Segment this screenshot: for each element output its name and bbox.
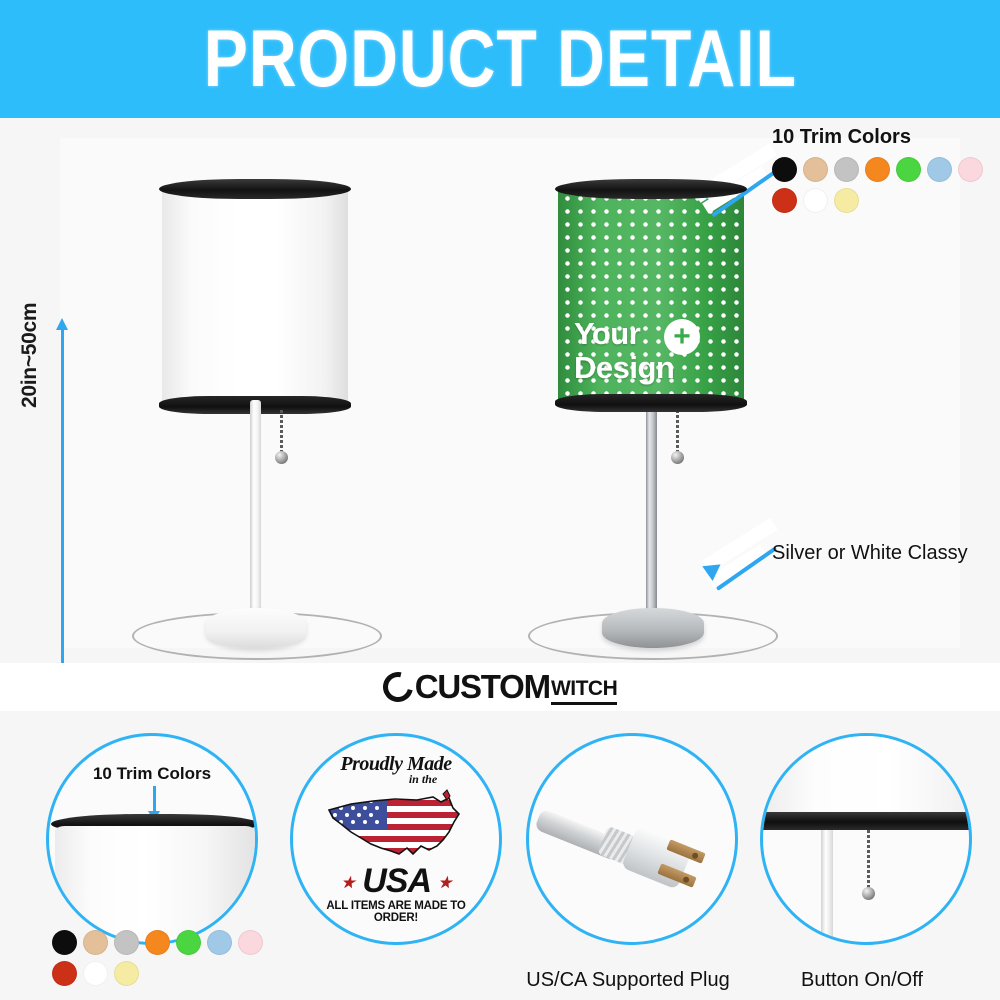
- white-lamp-shade: [162, 188, 348, 403]
- trim-colors-photo-circle: 10 Trim Colors: [46, 733, 258, 945]
- switch-panel-caption: Button On/Off: [742, 969, 982, 992]
- swatch-pink[interactable]: [238, 930, 263, 955]
- swatch-yellow[interactable]: [114, 961, 139, 986]
- swatch-light-blue[interactable]: [207, 930, 232, 955]
- brand-name-sub: WITCH: [551, 677, 617, 705]
- trim-color-swatch-row[interactable]: [772, 157, 1000, 213]
- usa-badge-circle: Proudly Made in the: [290, 733, 502, 945]
- plus-icon: +: [664, 319, 700, 355]
- plug-photo-circle: [526, 733, 738, 945]
- logo-c-icon: [377, 666, 418, 707]
- made-in-usa-panel: Proudly Made in the: [272, 719, 512, 1000]
- swatch-orange[interactable]: [145, 930, 170, 955]
- swatch-pink[interactable]: [958, 157, 983, 182]
- trim-closeup: [763, 812, 972, 830]
- swatch-white[interactable]: [83, 961, 108, 986]
- trim-colors-inner-label: 10 Trim Colors: [49, 764, 255, 784]
- star-icon: ★: [438, 875, 450, 892]
- design-line-2: Design: [574, 351, 674, 385]
- silver-or-white-classy-label: Silver or White Classy: [772, 542, 968, 565]
- silver-lamp-pole: [646, 400, 657, 630]
- brand-logo: CUSTOM WITCH: [0, 663, 1000, 711]
- usa-badge-country: ★ USA ★: [306, 864, 486, 898]
- swatch-green[interactable]: [176, 930, 201, 955]
- switch-panel: Button On/Off: [742, 719, 982, 1000]
- down-arrow-icon: [153, 786, 156, 812]
- switch-photo-circle: [760, 733, 972, 945]
- usa-map-flag-icon: [321, 788, 471, 866]
- green-lamp-bottom-trim: [555, 394, 747, 412]
- usa-badge-line1: Proudly Made: [306, 754, 486, 774]
- white-lamp-pole: [250, 400, 261, 630]
- star-icon: ★: [341, 875, 353, 892]
- product-detail-page: PRODUCT DETAIL 7in~18cm 20in~50cm: [0, 0, 1000, 1000]
- white-lamp-base: [206, 608, 306, 648]
- height-dimension-label: 20in~50cm: [18, 303, 42, 408]
- swatch-black[interactable]: [772, 157, 797, 182]
- green-lamp-top-trim: [555, 179, 747, 199]
- swatch-tan[interactable]: [803, 157, 828, 182]
- white-lamp: [140, 188, 370, 648]
- design-line-1: Your: [574, 317, 674, 351]
- swatch-white[interactable]: [803, 188, 828, 213]
- swatch-gray[interactable]: [834, 157, 859, 182]
- swatch-yellow[interactable]: [834, 188, 859, 213]
- usa-badge: Proudly Made in the: [306, 754, 486, 924]
- your-design-text: Your Design: [574, 317, 674, 385]
- trim-colors-legend: 10 Trim Colors: [772, 126, 1000, 213]
- swatch-black[interactable]: [52, 930, 77, 955]
- swatch-orange[interactable]: [865, 157, 890, 182]
- green-lamp: Your Design +: [540, 188, 780, 648]
- swatch-red[interactable]: [52, 961, 77, 986]
- usa-badge-tagline: ALL ITEMS ARE MADE TO ORDER!: [306, 900, 486, 924]
- pull-chain-switch-icon[interactable]: [867, 830, 870, 888]
- green-lamp-shade: Your Design +: [558, 188, 744, 403]
- header-banner: PRODUCT DETAIL: [0, 0, 1000, 118]
- swatch-green[interactable]: [896, 157, 921, 182]
- power-plug-icon: [535, 782, 735, 912]
- trim-colors-caption: 10 Trim Colors: [772, 126, 1000, 149]
- swatch-light-blue[interactable]: [927, 157, 952, 182]
- swatch-tan[interactable]: [83, 930, 108, 955]
- lamp-shade-closeup: [55, 826, 255, 945]
- bottom-trim-color-strip: [52, 930, 282, 986]
- usa-text: USA: [362, 862, 430, 900]
- bottom-swatch-row[interactable]: [52, 930, 278, 986]
- plug-panel: US/CA Supported Plug: [508, 719, 748, 1000]
- swatch-gray[interactable]: [114, 930, 139, 955]
- shade-closeup: [763, 736, 972, 812]
- pole-closeup: [821, 830, 833, 945]
- swatch-red[interactable]: [772, 188, 797, 213]
- plug-panel-caption: US/CA Supported Plug: [508, 969, 748, 992]
- brand-name-main: CUSTOM: [415, 668, 550, 706]
- silver-lamp-base: [602, 608, 704, 648]
- pull-chain-icon: [280, 410, 283, 452]
- pull-chain-icon: [676, 410, 679, 452]
- page-title: PRODUCT DETAIL: [203, 13, 796, 105]
